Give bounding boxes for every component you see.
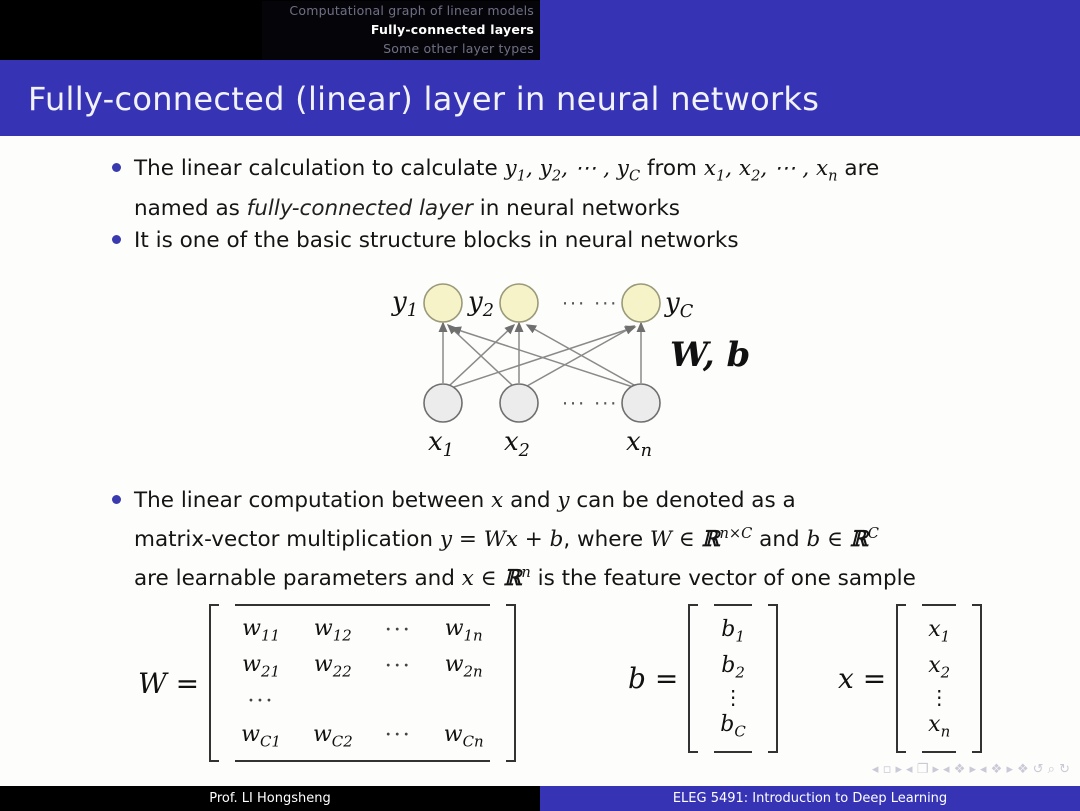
matrix-row: w11 w12 ··· w1n (225, 612, 500, 648)
cell-b2: b2 (706, 650, 760, 684)
b3-seg-f: and (752, 527, 806, 552)
bullet-item-2: It is one of the basic structure blocks … (112, 224, 1012, 257)
b3-seg-h: is the feature vector of one sample (531, 566, 916, 591)
footer-bar: Prof. LI Hongsheng ELEG 5491: Introducti… (0, 786, 1080, 811)
bullet-dot-icon (112, 163, 121, 172)
vector-b-group: b = b1 b2 ⋮ bC (628, 604, 778, 753)
nav-item-some-other-layer-types[interactable]: Some other layer types (262, 39, 538, 58)
matrix-row: wC1 wC2 ··· wCn (225, 718, 500, 754)
cell-empty (428, 685, 500, 718)
section-nav-list: Computational graph of linear models Ful… (262, 1, 540, 60)
cell-empty (369, 685, 428, 718)
nav-symbol-subsection[interactable]: ◂ ❖ ▸ (943, 762, 976, 777)
nav-symbol-section[interactable]: ◂ ❖ ▸ (980, 762, 1013, 777)
vector-row: xn (914, 709, 964, 743)
cell-xn: xn (914, 709, 964, 743)
input-ellipsis: ··· ··· (562, 393, 618, 415)
matrix-W-group: W = w11 w12 ··· w1n w21 w22 ··· w2n (138, 604, 516, 762)
vector-row: ⋮ (706, 687, 760, 707)
matrix-row: ··· (225, 685, 500, 718)
bullet-item-1: The linear calculation to calculate y1, … (112, 152, 1012, 225)
b1-math-y: y1, y2, ⋯ , yC (505, 156, 641, 181)
cell-ellipsis: ··· (369, 612, 428, 648)
bullet-1-text: The linear calculation to calculate y1, … (134, 152, 879, 225)
cell-vdots: ⋮ (914, 687, 964, 707)
vector-b-label: b = (628, 662, 678, 695)
node-label-x2: x2 (504, 427, 530, 461)
b3-seg-a: The linear computation between (134, 488, 491, 513)
matrix-W-label: W = (138, 667, 199, 700)
node-label-y1: y1 (392, 287, 418, 321)
node-label-yC: yC (665, 288, 693, 322)
matrix-definitions: W = w11 w12 ··· w1n w21 w22 ··· w2n (0, 596, 1080, 776)
matrix-row: w21 w22 ··· w2n (225, 648, 500, 684)
vector-row: b2 (706, 650, 760, 684)
footer-course: ELEG 5491: Introduction to Deep Learning (540, 786, 1080, 811)
vector-row: bC (706, 709, 760, 743)
cell-w21: w21 (225, 648, 297, 684)
cell-b1: b1 (706, 614, 760, 648)
footer-author: Prof. LI Hongsheng (0, 786, 540, 811)
cell-w12: w12 (297, 612, 369, 648)
navbar-right-fill (540, 0, 1080, 60)
nav-item-computational-graph[interactable]: Computational graph of linear models (262, 1, 538, 20)
nav-symbol-back-search-forward[interactable]: ↺ ⌕ ↻ (1033, 762, 1070, 777)
b1-seg-c: are (838, 156, 880, 181)
nav-symbol-frame[interactable]: ◂ ❐ ▸ (906, 762, 939, 777)
cell-wC2: wC2 (297, 718, 369, 754)
b1-seg-a: The linear calculation to calculate (134, 156, 505, 181)
output-ellipsis: ··· ··· (562, 293, 618, 315)
b3-math-b: b ∈ ℝC (806, 527, 878, 552)
vector-row: x1 (914, 614, 964, 648)
cell-wC1: wC1 (225, 718, 297, 754)
cell-w1n: w1n (428, 612, 500, 648)
bullet-dot-icon (112, 235, 121, 244)
b3-math-xr: x ∈ ℝn (462, 566, 531, 591)
b3-seg-b: and (503, 488, 557, 513)
nav-symbol-slide[interactable]: ◂ ▫ ▸ (872, 762, 902, 777)
b1-emphasis: fully-connected layer (247, 196, 473, 221)
top-navigation-bar: Computational graph of linear models Ful… (0, 0, 1080, 60)
b3-math-eq: y = Wx + b (440, 527, 564, 552)
matrix-W-bracket: w11 w12 ··· w1n w21 w22 ··· w2n ··· (209, 604, 516, 762)
bullet-dot-icon (112, 495, 121, 504)
b3-seg-c: can be denoted as a (570, 488, 796, 513)
b3-seg-g: are learnable parameters and (134, 566, 462, 591)
bullet-3-text: The linear computation between x and y c… (134, 484, 916, 595)
b1-seg-d: named as (134, 196, 247, 221)
vector-row: x2 (914, 650, 964, 684)
vector-row: ⋮ (914, 687, 964, 707)
b3-seg-d: matrix-vector multiplication (134, 527, 440, 552)
b3-seg-e: , where (563, 527, 650, 552)
b3-math-W: W ∈ ℝn×C (650, 527, 752, 552)
vector-b-table: b1 b2 ⋮ bC (704, 612, 762, 745)
bullet-item-3: The linear computation between x and y c… (112, 484, 1032, 595)
weight-bias-label: W, b (670, 335, 750, 375)
node-label-xn: xn (626, 427, 652, 461)
neural-network-diagram: y1 y2 yC x1 x2 xn ··· ··· ··· ··· W, b (380, 275, 780, 475)
cell-w2n: w2n (428, 648, 500, 684)
cell-w11: w11 (225, 612, 297, 648)
cell-x2: x2 (914, 650, 964, 684)
cell-vdots: ⋮ (706, 687, 760, 707)
slide-title: Fully-connected (linear) layer in neural… (28, 80, 819, 118)
nav-symbol-doc[interactable]: ❖ (1017, 762, 1029, 777)
b1-seg-e: in neural networks (473, 196, 680, 221)
vector-x-label: x = (838, 662, 886, 695)
slide-body: The linear calculation to calculate y1, … (0, 136, 1080, 776)
nav-item-fully-connected-layers[interactable]: Fully-connected layers (262, 20, 538, 39)
vector-x-bracket: x1 x2 ⋮ xn (896, 604, 982, 753)
cell-ellipsis: ··· (369, 648, 428, 684)
cell-wCn: wCn (428, 718, 500, 754)
vector-b-bracket: b1 b2 ⋮ bC (688, 604, 778, 753)
cell-empty (297, 685, 369, 718)
node-label-x1: x1 (428, 427, 454, 461)
bullet-2-text: It is one of the basic structure blocks … (134, 224, 739, 257)
node-label-y2: y2 (468, 287, 494, 321)
cell-bC: bC (706, 709, 760, 743)
b1-math-x: x1, x2, ⋯ , xn (704, 156, 838, 181)
cell-ellipsis: ··· (369, 718, 428, 754)
vector-row: b1 (706, 614, 760, 648)
matrix-W-table: w11 w12 ··· w1n w21 w22 ··· w2n ··· (225, 612, 500, 754)
b3-math-x: x (491, 488, 503, 513)
b1-seg-b: from (640, 156, 704, 181)
vector-x-group: x = x1 x2 ⋮ xn (838, 604, 982, 753)
cell-w22: w22 (297, 648, 369, 684)
b3-math-y: y (557, 488, 569, 513)
vector-x-table: x1 x2 ⋮ xn (912, 612, 966, 745)
cell-row-ellipsis: ··· (225, 685, 297, 718)
cell-x1: x1 (914, 614, 964, 648)
